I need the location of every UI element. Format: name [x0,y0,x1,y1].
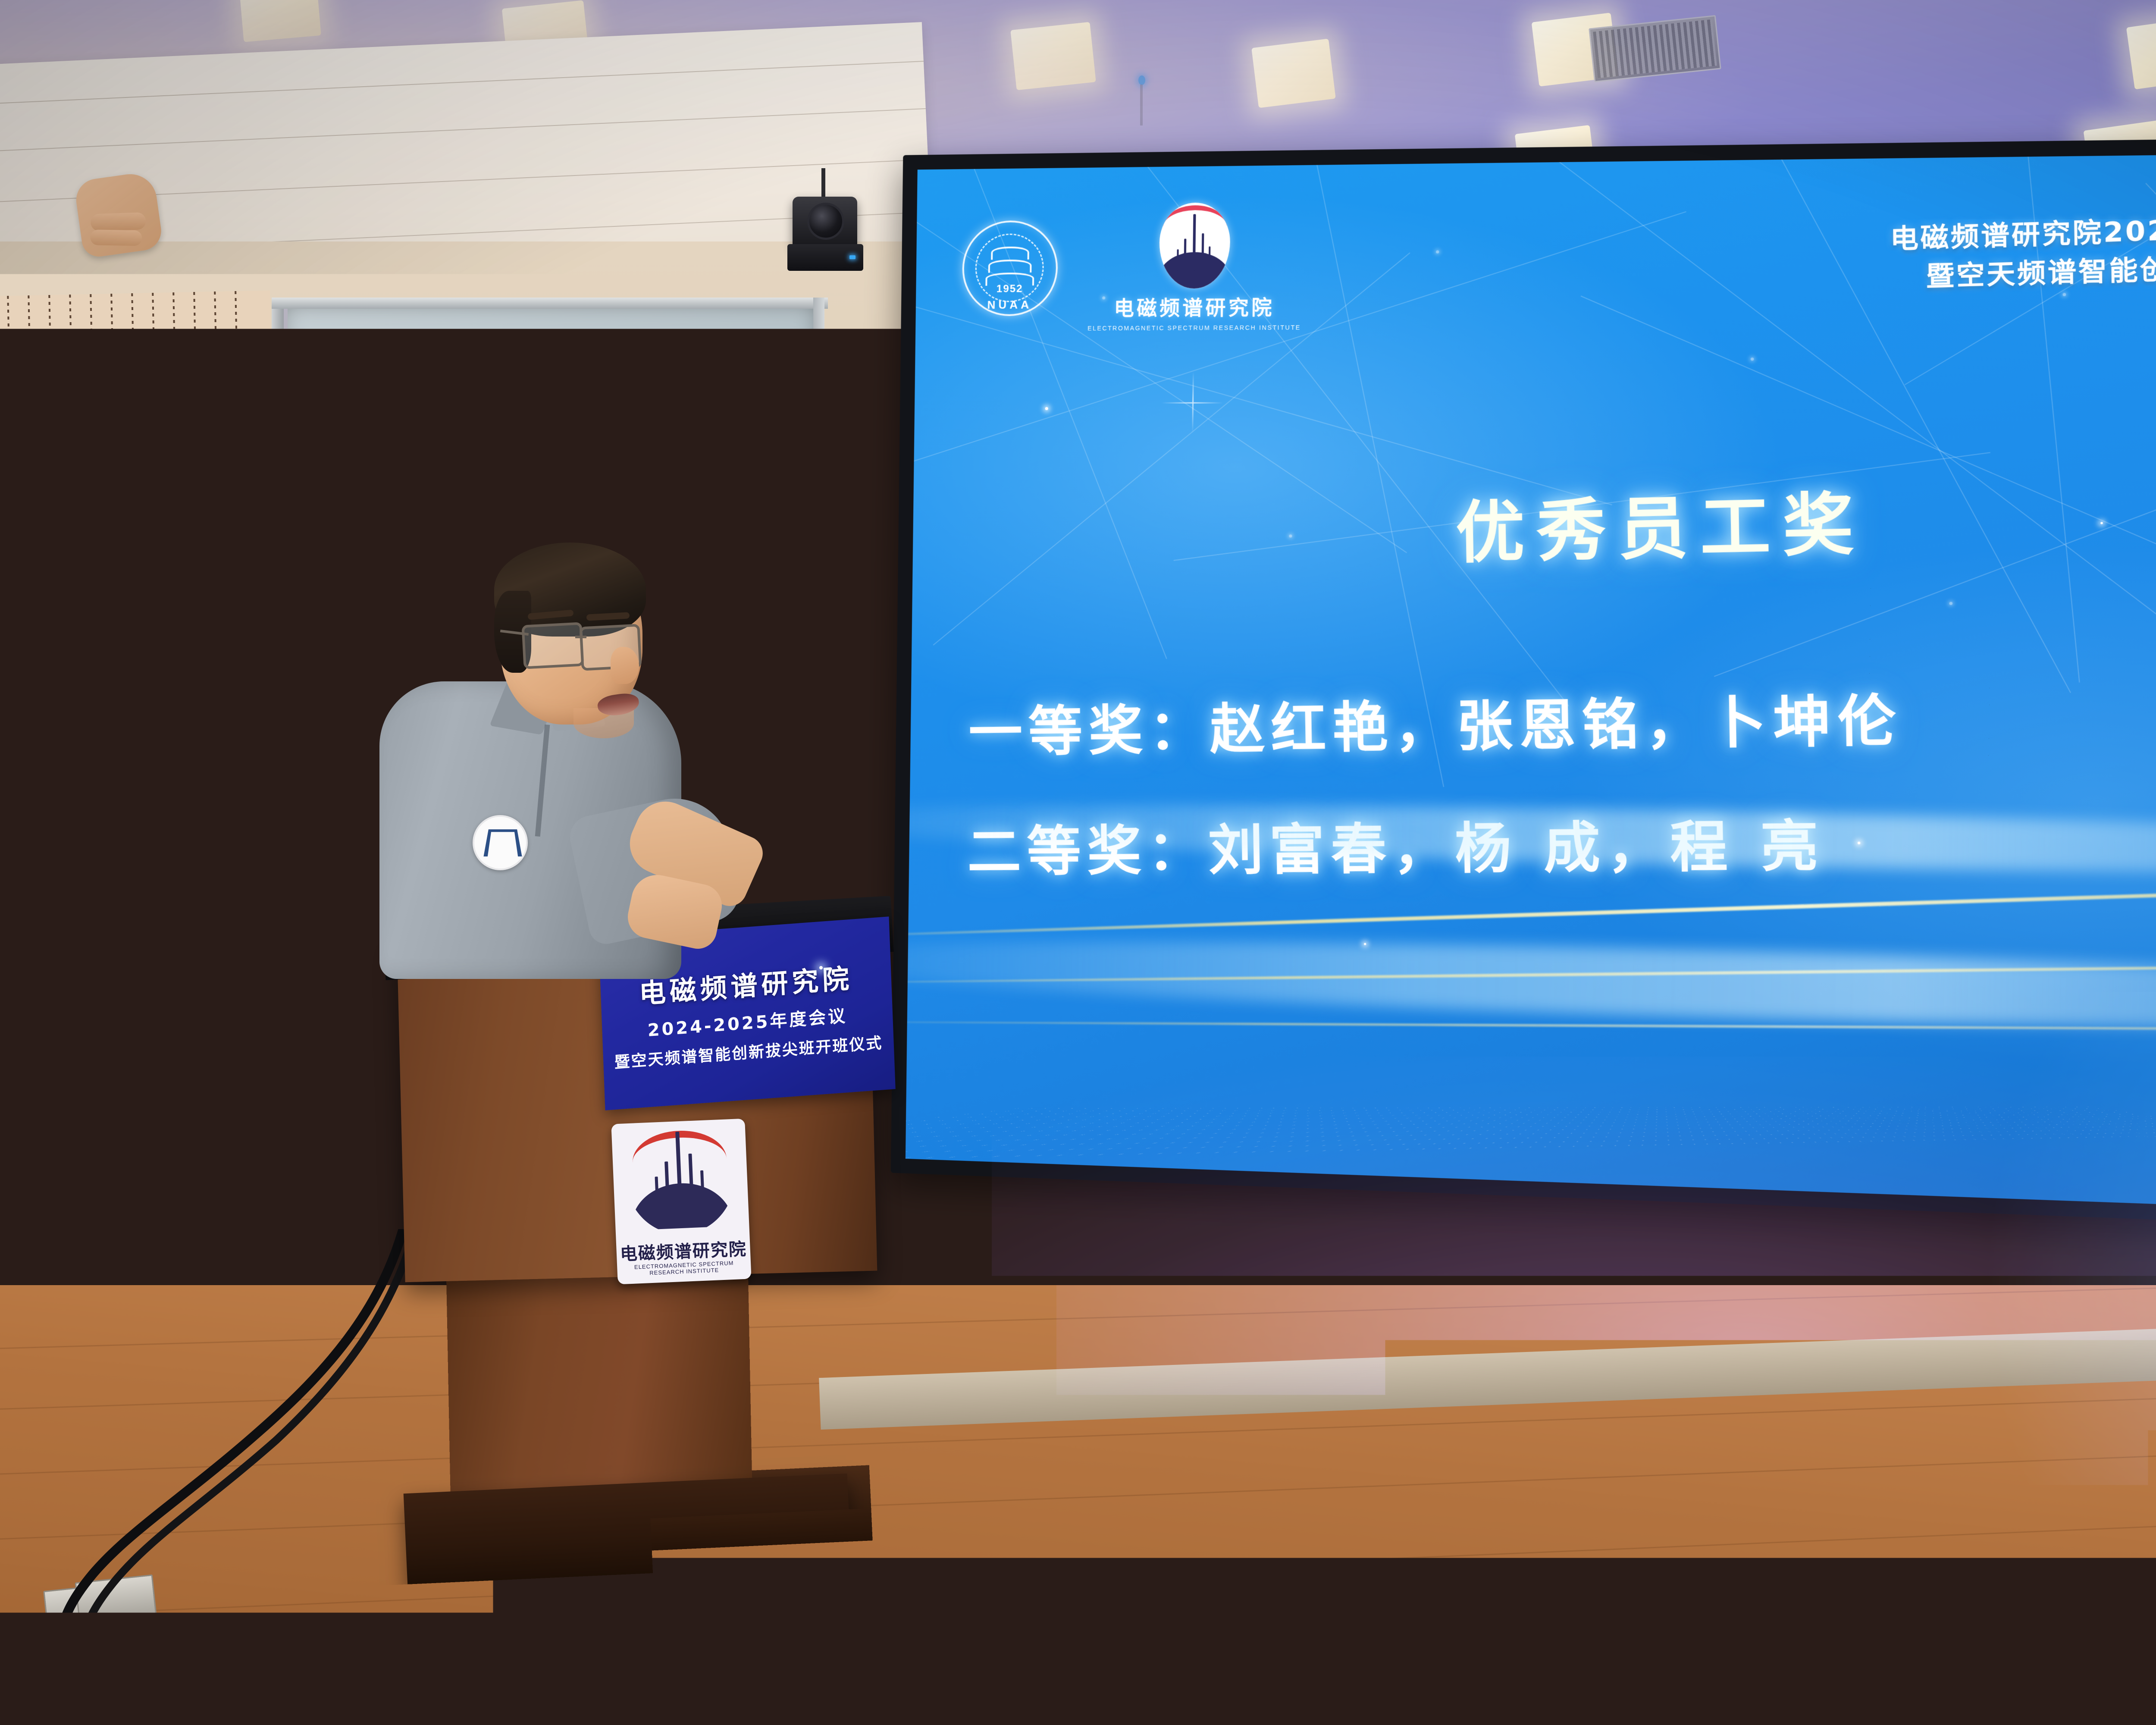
institute-name-cn: 电磁频谱研究院 [1114,291,1275,321]
glass-frame-top [272,298,828,309]
door-lever-arm-icon[interactable] [137,955,189,963]
nuaa-abbr: NUAA [964,298,1056,311]
podium-sign-sparkle [819,966,823,969]
slide-starburst-icon-2 [1177,387,1208,417]
screen-surface: 1952 NUAA 电磁频谱研究院 ELECTROMAGNETIC SPECT [906,152,2156,1215]
slide-header-line-1: 电磁频谱研究院2024-2025年度会议 [1890,203,2156,259]
led-display-screen[interactable]: 1952 NUAA 电磁频谱研究院 ELECTROMAGNETIC SPECT [891,135,2156,1231]
slide-light-ribbons [906,703,2156,1214]
spectrum-mark-icon [1159,202,1231,289]
slide-logo-row: 1952 NUAA 电磁频谱研究院 ELECTROMAGNETIC SPECT [962,201,1302,332]
institute-logo: 电磁频谱研究院 ELECTROMAGNETIC SPECTRUM RESEARC… [1087,201,1302,332]
nuaa-crest-patch-icon [473,815,528,870]
eyeglasses-bridge [575,636,586,638]
door-lever-handle-icon[interactable] [180,942,207,993]
room-door[interactable] [0,444,270,1333]
podium-institute-plate: 电磁频谱研究院 ELECTROMAGNETIC SPECTRUM RESEARC… [611,1119,751,1285]
institute-name-en: ELECTROMAGNETIC SPECTRUM RESEARCH INSTIT… [1087,324,1301,332]
speaker-hand-holding-mic [73,171,163,259]
nuaa-founded-year: 1952 [964,282,1056,295]
acoustic-slat-panel [0,290,273,451]
camera-lens-icon [807,203,844,240]
podium-spectrum-mark-icon [624,1124,737,1236]
podium-column [446,1265,753,1512]
speaker-person [371,539,759,970]
ceiling-projector-icon [278,330,364,367]
slide-title: 优秀员工奖 [912,454,2156,586]
photo-scene: 1952 NUAA 电磁频谱研究院 ELECTROMAGNETIC SPECT [0,0,2156,1725]
slide-header: 电磁频谱研究院2024-2025年度会议 暨空天频谱智能创新拔尖班开班仪式 [1890,203,2156,297]
exit-sign-icon [278,367,318,386]
speaker-nose [611,647,639,684]
eyeglasses-lens-left [521,622,584,669]
camera-status-led [849,255,856,259]
nuaa-seal-icon: 1952 NUAA [962,220,1059,316]
floor-light-wash-2 [798,1358,1488,1725]
glass-frame-left [272,298,284,1350]
